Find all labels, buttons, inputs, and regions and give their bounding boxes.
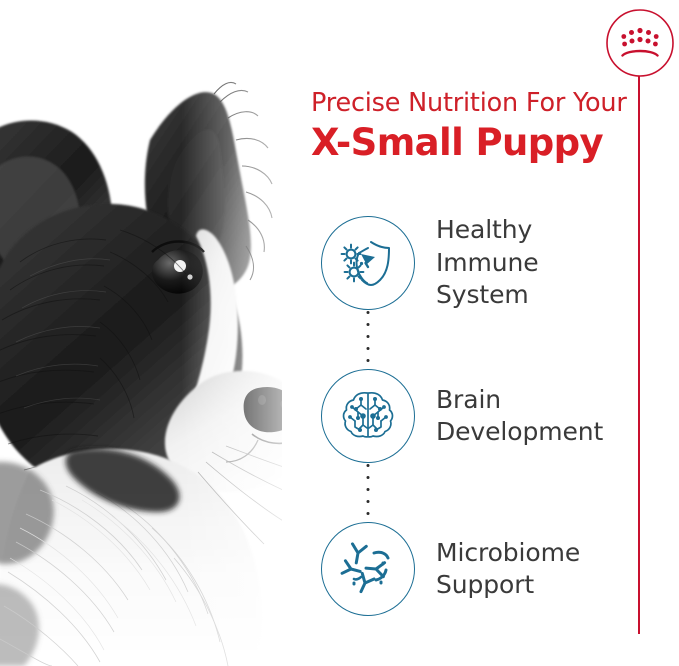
microbiome-icon (338, 537, 398, 601)
benefit-icon-circle-immune (321, 216, 415, 310)
shield-immune-icon (337, 230, 399, 296)
benefits-list: Healthy Immune System (321, 215, 651, 617)
benefit-label-microbiome: Microbiome Support (436, 537, 580, 602)
benefit-connector-1 (367, 311, 370, 368)
brain-icon (339, 385, 397, 447)
benefit-item-microbiome: Microbiome Support (321, 521, 651, 617)
puppy-photo (0, 0, 330, 666)
headline-kicker: Precise Nutrition For Your (311, 88, 641, 118)
benefit-item-immune: Healthy Immune System (321, 215, 651, 311)
benefit-label-immune: Healthy Immune System (436, 214, 539, 312)
benefit-label-brain: Brain Development (436, 384, 603, 449)
benefit-icon-circle-brain (321, 369, 415, 463)
page-title: X-Small Puppy (311, 121, 641, 165)
benefit-item-brain: Brain Development (321, 368, 651, 464)
infographic-canvas: Precise Nutrition For Your X-Small Puppy (0, 0, 679, 666)
royal-canin-crown-logo (605, 8, 675, 78)
benefit-icon-circle-microbiome (321, 522, 415, 616)
headline-block: Precise Nutrition For Your X-Small Puppy (311, 88, 641, 165)
benefit-connector-2 (367, 464, 370, 521)
